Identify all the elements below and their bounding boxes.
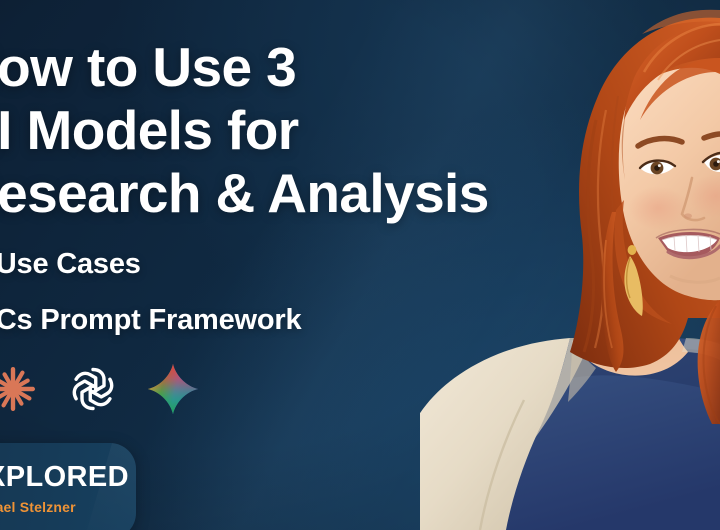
video-thumbnail: How to Use 3 AI Models for Research & An… [0,0,720,530]
brand-name: AI EXPLORED [0,461,129,494]
headline-line-2: AI Models for [0,99,518,162]
brand-badge: AI EXPLORED with Michael Stelzner [0,443,136,530]
bullet-item-1: 6 Use Cases [0,236,301,292]
gemini-logo-icon [146,362,200,416]
bullet-item-2: 3 Cs Prompt Framework [0,292,301,348]
ai-model-logo-row [0,362,200,416]
bullet-list: 6 Use Cases 3 Cs Prompt Framework [0,236,301,348]
brand-host: with Michael Stelzner [0,499,76,515]
openai-logo-icon [66,362,120,416]
headline-line-3: Research & Analysis [0,162,518,225]
claude-logo-icon [0,362,40,416]
headline-line-1: How to Use 3 [0,36,518,99]
headline: How to Use 3 AI Models for Research & An… [0,36,518,225]
